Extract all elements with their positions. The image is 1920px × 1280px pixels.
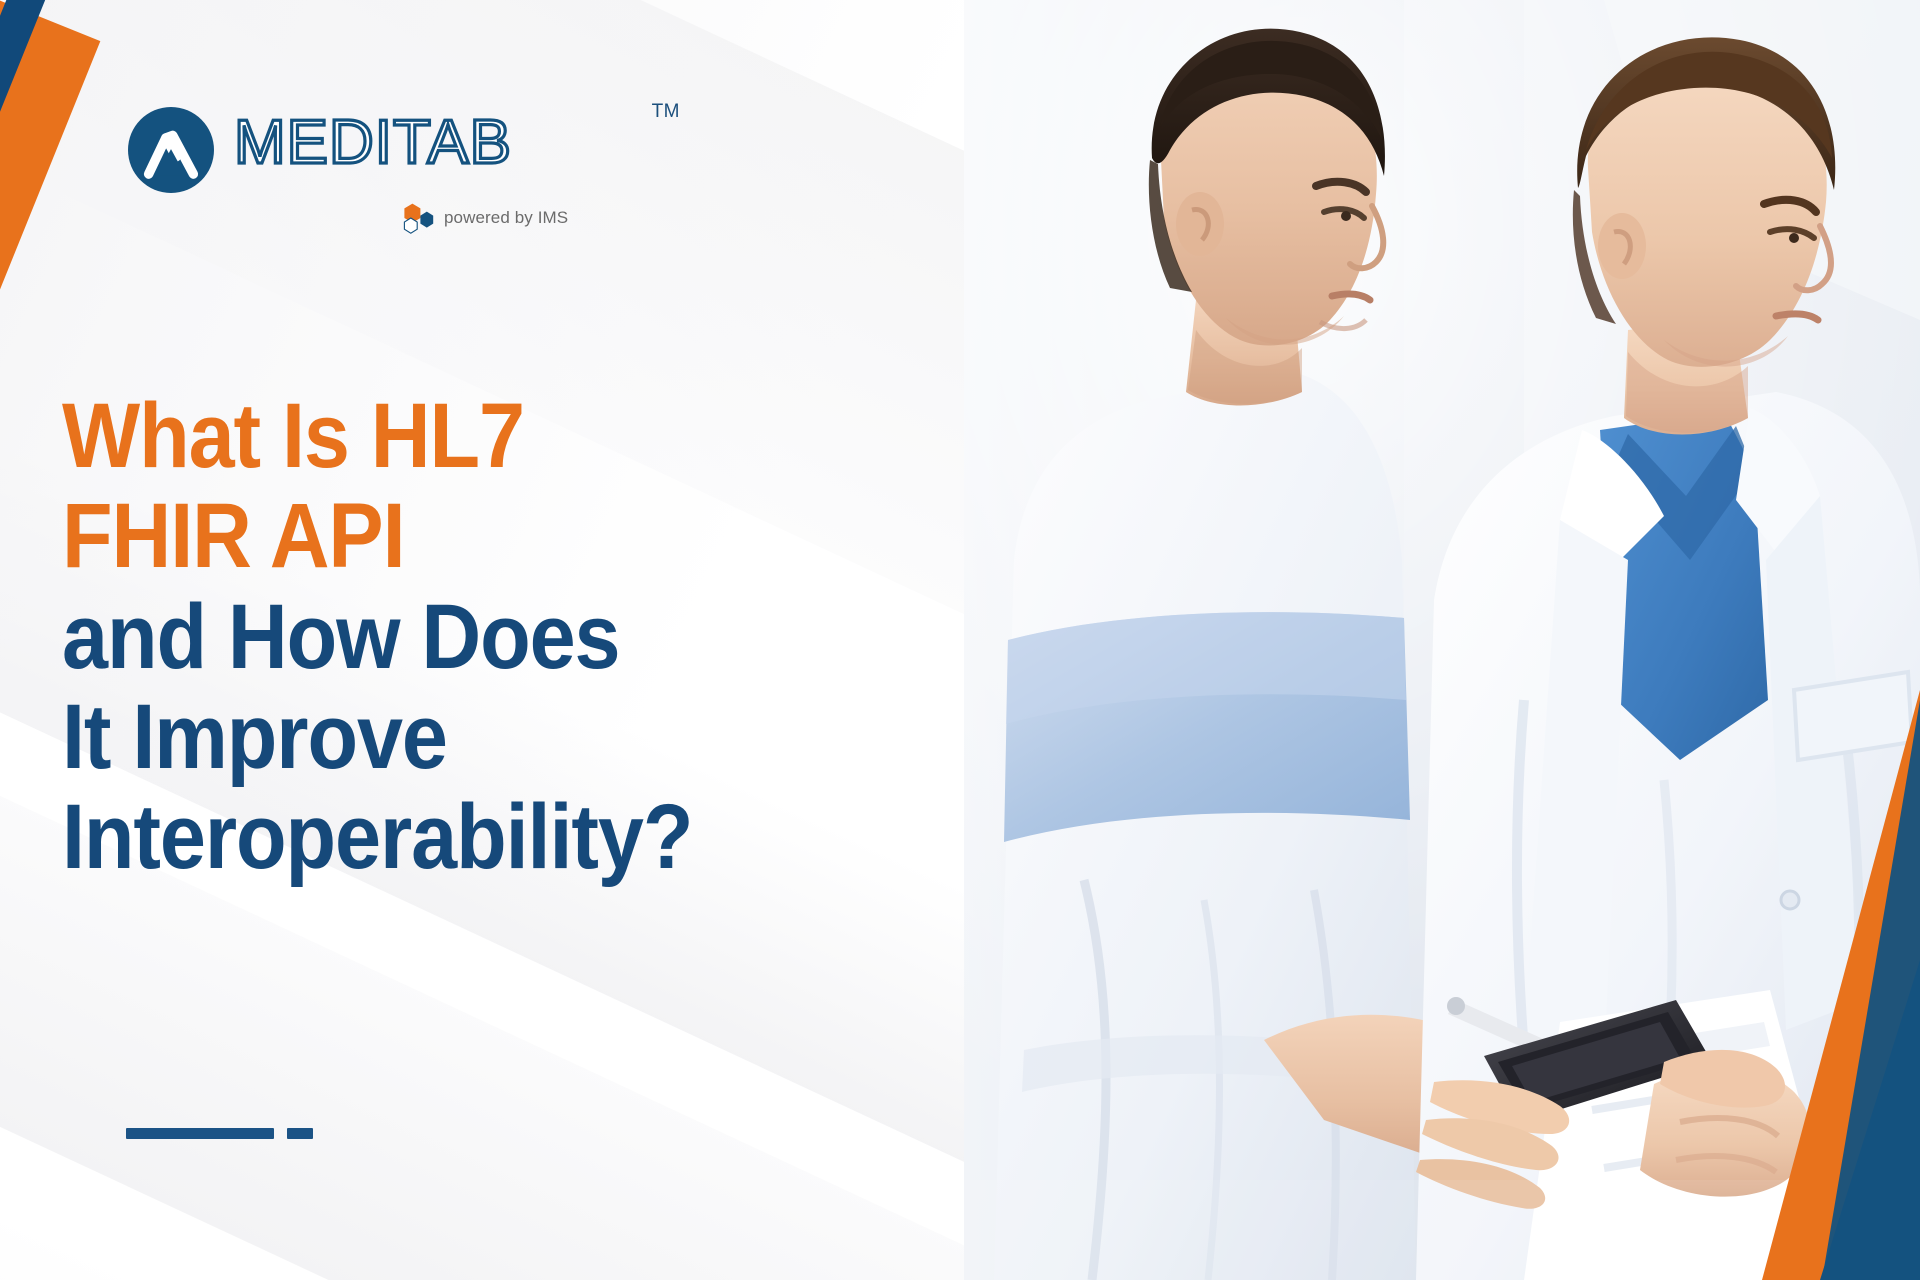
headline-line-4: It Improve [62,687,827,787]
meditab-logo[interactable]: MEDITAB TM powered by IMS [128,107,654,234]
page-title: What Is HL7 FHIR API and How Does It Imp… [62,386,912,887]
content-panel: MEDITAB TM powered by IMS What Is HL7 FH… [0,0,964,1280]
headline-line-5: Interoperability? [62,787,827,887]
dash-decoration [126,1128,313,1139]
dash-long [126,1128,274,1139]
headline-line-3: and How Does [62,587,827,687]
meditab-m-circle-icon [128,107,214,193]
meditab-wordmark: MEDITAB [234,107,654,177]
hexagon-cluster-icon [400,202,436,234]
tagline-text: powered by IMS [444,208,568,228]
logo-tagline: powered by IMS [400,202,654,234]
banner-canvas: MEDITAB TM powered by IMS What Is HL7 FH… [0,0,1920,1280]
background-sheen-stripe [0,1010,964,1280]
dash-short [287,1128,313,1139]
svg-text:MEDITAB: MEDITAB [234,108,512,177]
trademark-symbol: TM [652,101,680,123]
hero-photo-clinicians [964,0,1920,1280]
headline-line-2: FHIR API [62,486,827,586]
headline-line-1: What Is HL7 [62,386,827,486]
